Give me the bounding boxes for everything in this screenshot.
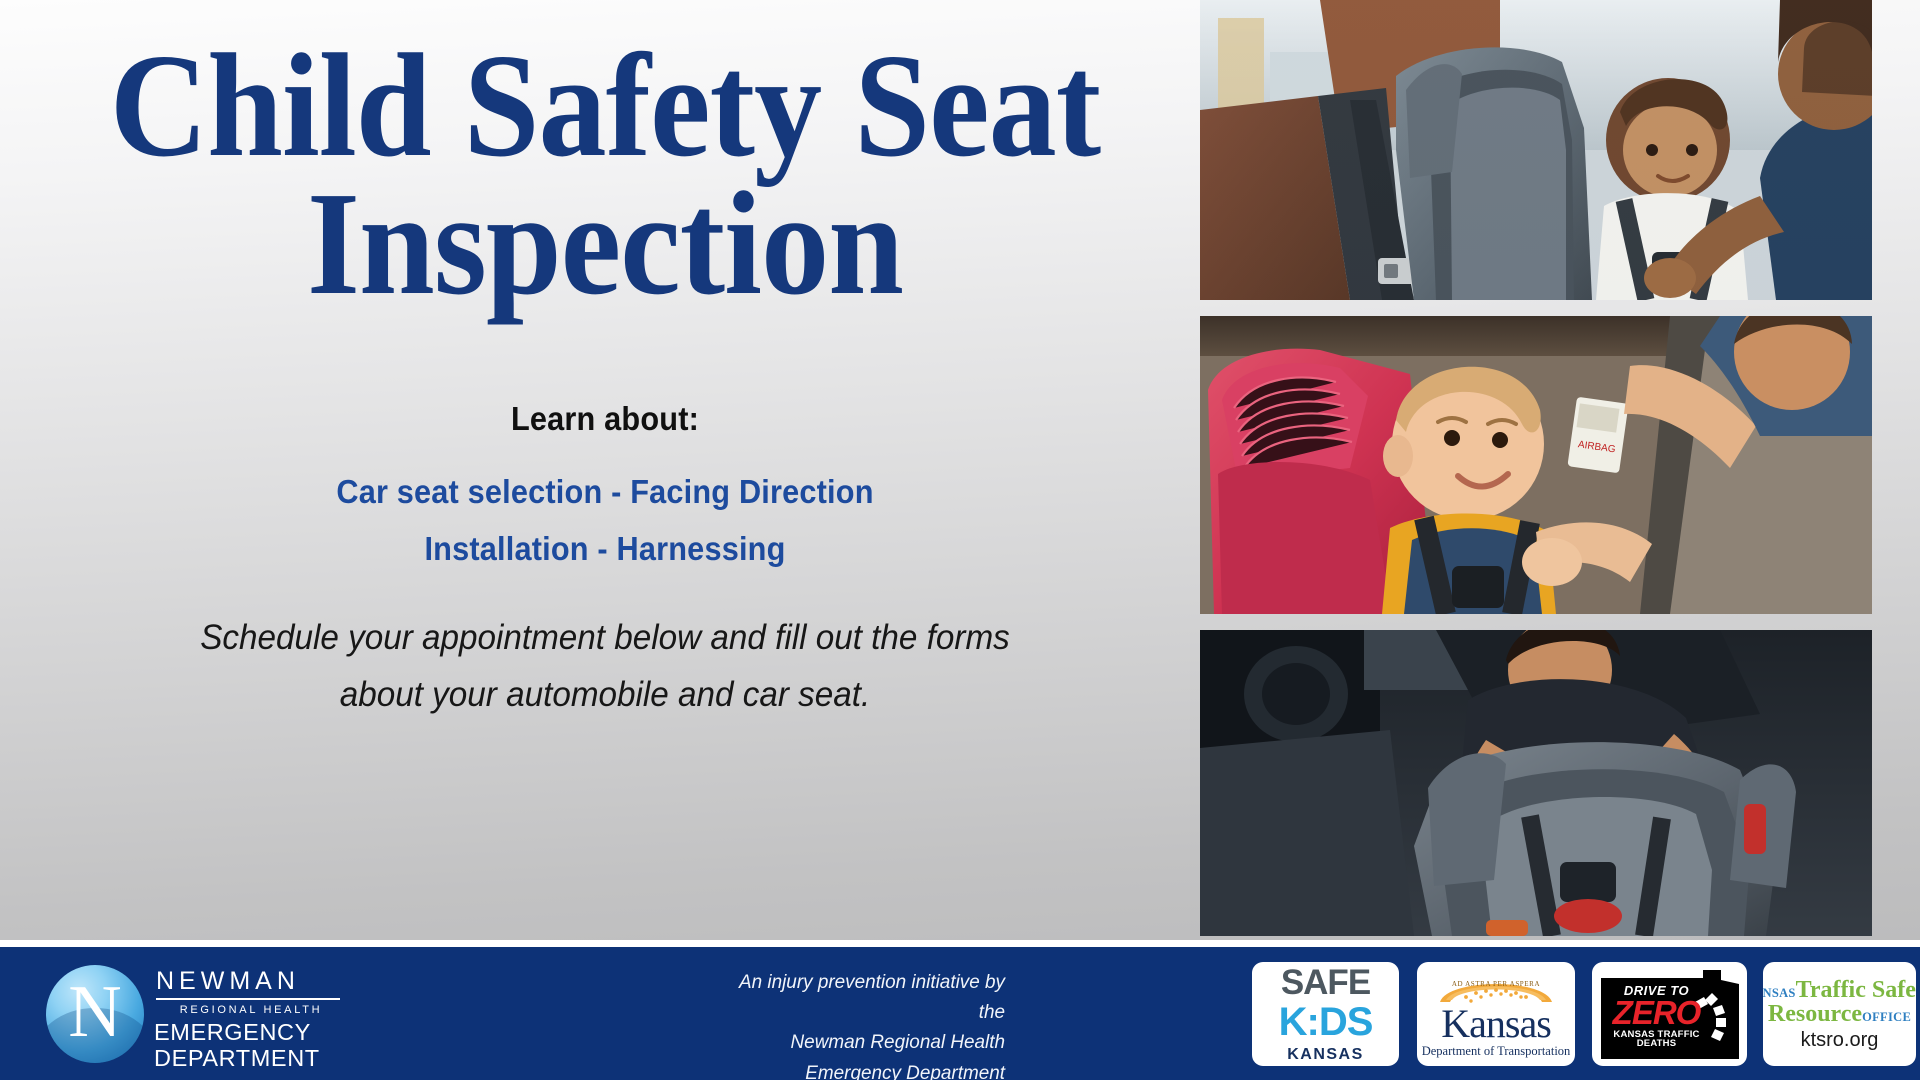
- topic-line-1: Car seat selection - Facing Direction: [80, 464, 1131, 521]
- safe-kids-region-text: KANSAS: [1279, 1047, 1373, 1063]
- ktsro-url: ktsro.org: [1763, 1030, 1916, 1050]
- newman-department: EMERGENCY DEPARTMENT: [154, 1019, 349, 1072]
- footer-credit-line-1: An injury prevention initiative by the: [739, 971, 1005, 1023]
- page-title-line-2: Inspection: [85, 176, 1125, 314]
- photo-father-installing-car-seat: [1200, 630, 1872, 936]
- ktsro-kansas-label: KANSAS: [1763, 986, 1796, 1000]
- page-title: Child Safety Seat Inspection: [85, 38, 1125, 313]
- partner-logo-drive-to-zero: DRIVE TO ZERO KANSAS TRAFFIC DEATHS: [1592, 962, 1747, 1066]
- ktsro-title-line-2: Resource: [1768, 1001, 1862, 1027]
- newman-orb-icon: N: [46, 965, 144, 1063]
- footer-credit: An injury prevention initiative by the N…: [729, 967, 1005, 1080]
- instruction-text: Schedule your appointment below and fill…: [116, 610, 1095, 723]
- learn-about-block: Learn about: Car seat selection - Facing…: [40, 400, 1170, 578]
- newman-wordmark: NEWMAN: [156, 969, 346, 994]
- newman-divider: [156, 998, 340, 1000]
- ktsro-title-line-1: Traffic Safety: [1796, 977, 1916, 1003]
- ktsro-office-label: OFFICE: [1862, 1010, 1911, 1024]
- footer-credit-line-2: Newman Regional Health: [791, 1031, 1005, 1053]
- drive-to-zero-zero-text: ZERO: [1605, 998, 1709, 1028]
- drive-to-zero-subtitle: KANSAS TRAFFIC DEATHS: [1605, 1030, 1709, 1049]
- partner-logo-safe-kids-kansas: SAFE K:DS KANSAS: [1252, 962, 1399, 1066]
- newman-department-line-1: EMERGENCY: [154, 1019, 311, 1045]
- kdot-department: Department of Transportation: [1422, 1045, 1571, 1058]
- partner-logo-ktsro: KANSASTraffic Safety ResourceOFFICE ktsr…: [1763, 962, 1916, 1066]
- footer-credit-line-3: Emergency Department: [805, 1062, 1005, 1080]
- instruction-line-2: about your automobile and car seat.: [340, 675, 871, 714]
- photo-mother-buckling-toddler-in-car-seat: [1200, 0, 1872, 300]
- topic-line-2: Installation - Harnessing: [80, 521, 1131, 578]
- kdot-ad-astra-banner-icon: AD ASTRA PER ASPERA: [1436, 974, 1556, 1004]
- photo-parent-harnessing-baby-in-red-car-seat: AIRBAG: [1200, 316, 1872, 614]
- footer-bar: N NEWMAN REGIONAL HEALTH EMERGENCY DEPAR…: [0, 947, 1920, 1080]
- partner-logo-kansas-dot: AD ASTRA PER ASPERA Kansas Department of…: [1417, 962, 1575, 1066]
- safe-kids-kids-text: K:DS: [1279, 1002, 1373, 1042]
- newman-orb-letter: N: [46, 965, 144, 1063]
- safe-kids-safe-text: SAFE: [1279, 965, 1373, 1000]
- newman-regional-health-logo: N NEWMAN REGIONAL HEALTH EMERGENCY DEPAR…: [46, 961, 346, 1067]
- poster-canvas: Child Safety Seat Inspection Learn about…: [0, 0, 1920, 1080]
- kdot-name: Kansas: [1422, 1005, 1571, 1043]
- newman-department-line-2: DEPARTMENT: [154, 1045, 320, 1071]
- learn-about-heading: Learn about:: [80, 400, 1131, 438]
- main-panel: Child Safety Seat Inspection Learn about…: [0, 0, 1920, 940]
- newman-subtitle: REGIONAL HEALTH: [156, 1004, 346, 1016]
- svg-text:AD ASTRA PER ASPERA: AD ASTRA PER ASPERA: [1452, 980, 1540, 988]
- instruction-line-1: Schedule your appointment below and fill…: [200, 618, 1010, 657]
